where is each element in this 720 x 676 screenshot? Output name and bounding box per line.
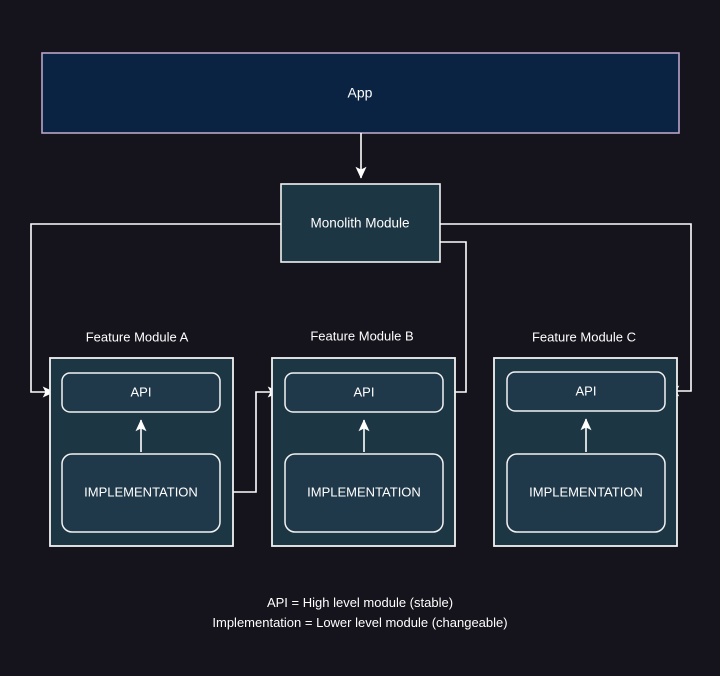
legend-line-1: API = High level module (stable): [267, 595, 453, 610]
feature-module-a-impl-label: IMPLEMENTATION: [84, 484, 198, 499]
feature-module-c-impl-label: IMPLEMENTATION: [529, 484, 643, 499]
feature-module-c[interactable]: Feature Module C API IMPLEMENTATION: [494, 329, 677, 546]
feature-module-c-api-label: API: [576, 383, 597, 398]
feature-module-b-impl[interactable]: IMPLEMENTATION: [285, 454, 443, 532]
feature-module-c-api[interactable]: API: [507, 372, 665, 411]
feature-module-a-api[interactable]: API: [62, 373, 220, 412]
monolith-node[interactable]: Monolith Module: [281, 184, 440, 262]
legend-line-2: Implementation = Lower level module (cha…: [212, 615, 507, 630]
feature-module-b-api[interactable]: API: [285, 373, 443, 412]
feature-module-a-title: Feature Module A: [86, 329, 189, 344]
feature-module-c-impl[interactable]: IMPLEMENTATION: [507, 454, 665, 532]
feature-module-a-api-label: API: [131, 384, 152, 399]
feature-module-b[interactable]: Feature Module B API IMPLEMENTATION: [272, 328, 455, 546]
feature-module-b-title: Feature Module B: [310, 328, 413, 343]
app-label: App: [348, 85, 373, 101]
feature-module-b-impl-label: IMPLEMENTATION: [307, 484, 421, 499]
monolith-label: Monolith Module: [310, 216, 409, 231]
feature-module-b-api-label: API: [354, 384, 375, 399]
architecture-diagram: App Monolith Module Feature Module A API: [0, 0, 720, 676]
feature-module-a-impl[interactable]: IMPLEMENTATION: [62, 454, 220, 532]
feature-module-c-title: Feature Module C: [532, 329, 636, 344]
app-node[interactable]: App: [42, 53, 679, 133]
feature-module-a[interactable]: Feature Module A API IMPLEMENTATION: [50, 329, 233, 546]
